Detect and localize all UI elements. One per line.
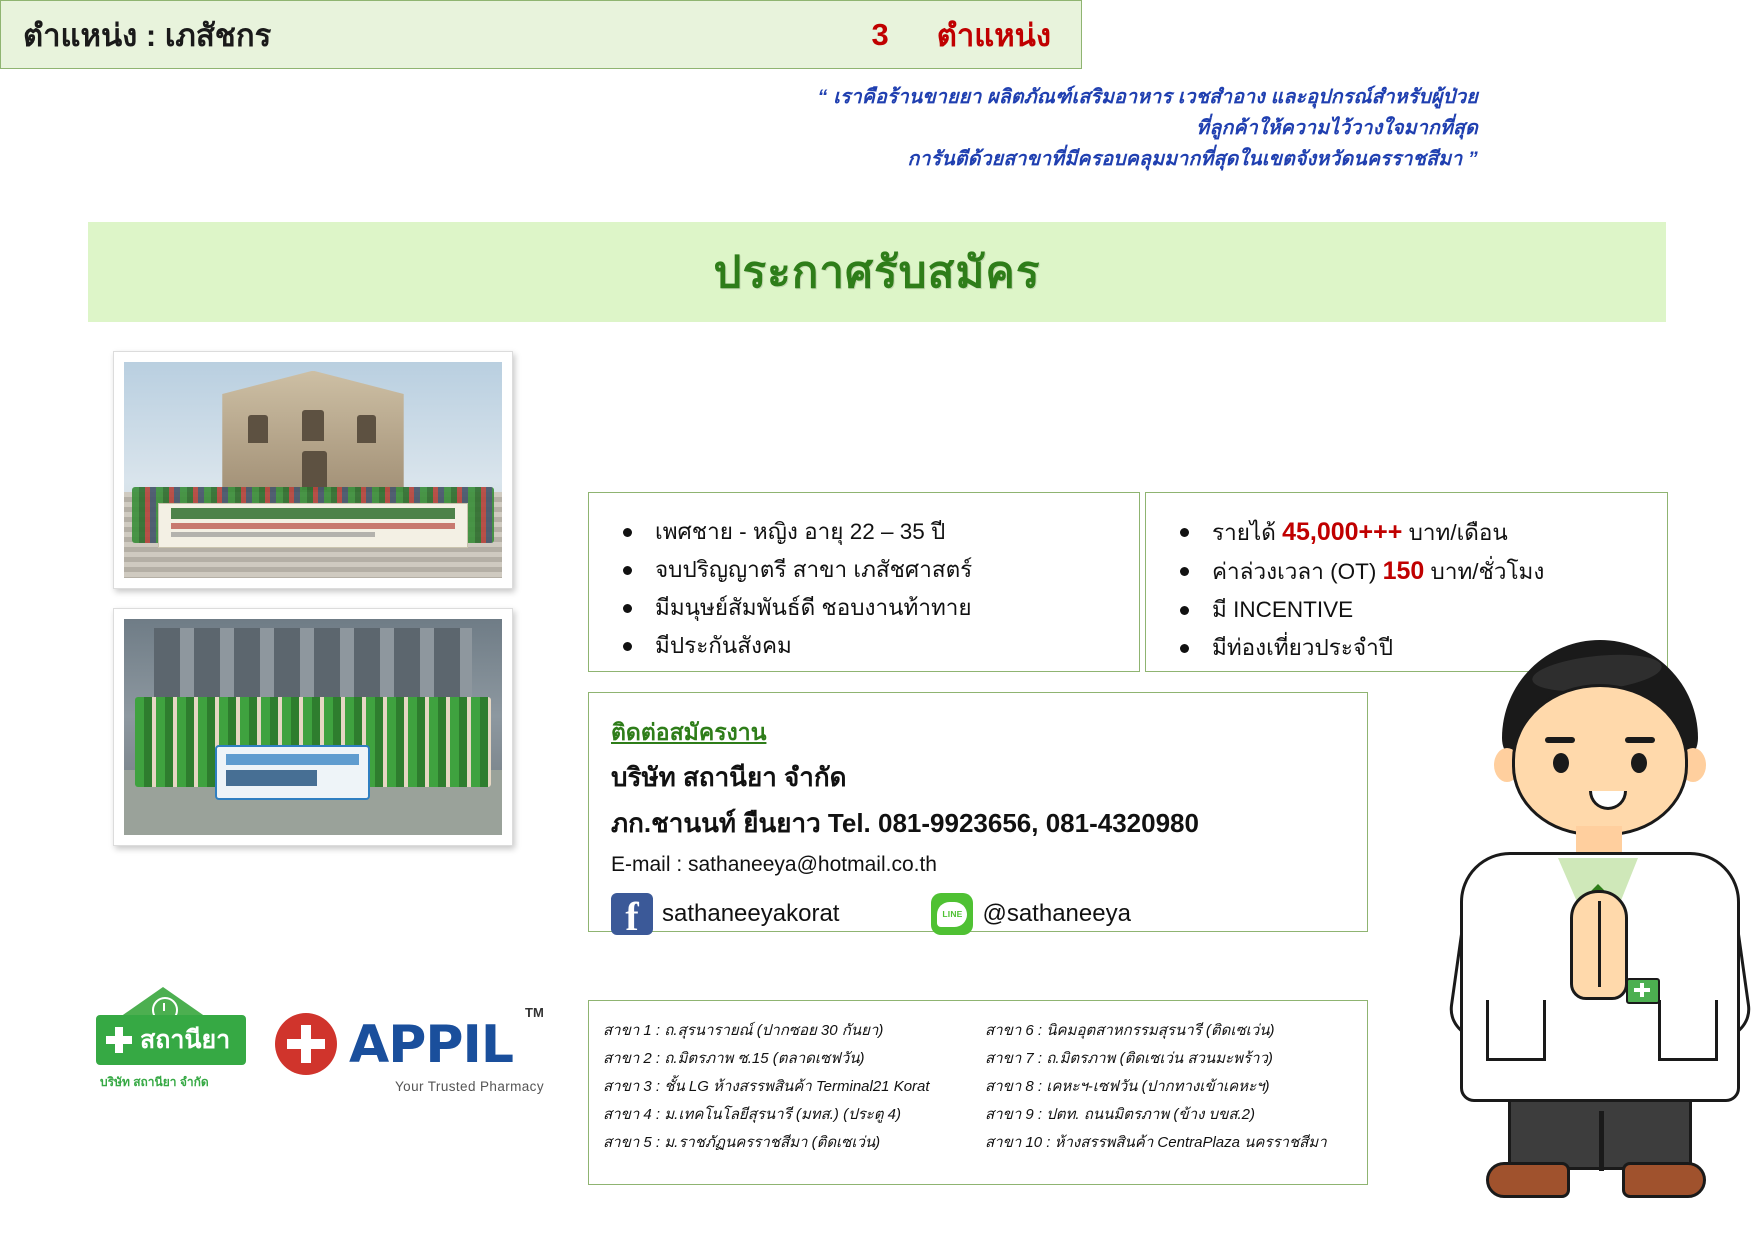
- page-title: ประกาศรับสมัคร: [714, 237, 1041, 307]
- sathaneeya-logo: สถานียา บริษัท สถานียา จำกัด: [80, 985, 265, 1130]
- social-row: sathaneeyakorat LINE @sathaneeya: [611, 893, 1367, 935]
- list-item: สาขา 9 : ปตท. ถนนมิตรภาพ (ข้าง บขส.2): [985, 1101, 1357, 1129]
- contact-box: ติดต่อสมัครงาน บริษัท สถานียา จำกัด ภก.ช…: [588, 692, 1368, 932]
- facebook-icon[interactable]: [611, 893, 653, 935]
- appil-tagline: Your Trusted Pharmacy: [395, 1079, 544, 1094]
- list-item: เพศชาย - หญิง อายุ 22 – 35 ปี: [617, 513, 1139, 551]
- list-item: สาขา 5 : ม.ราชภัฏนครราชสีมา (ติดเซเว่น): [603, 1129, 975, 1157]
- line-icon-label: LINE: [942, 909, 962, 919]
- list-item: สาขา 4 : ม.เทคโนโลยีสุรนารี (มทส.) (ประต…: [603, 1101, 975, 1129]
- contact-heading: ติดต่อสมัครงาน: [611, 715, 766, 751]
- appil-cross-icon: [275, 1013, 337, 1075]
- benefit-highlight: 45,000+++: [1282, 518, 1402, 546]
- contact-company: บริษัท สถานียา จำกัด: [611, 757, 1367, 797]
- benefit-prefix: มีท่องเที่ยวประจำปี: [1212, 635, 1393, 660]
- logo-area: สถานียา บริษัท สถานียา จำกัด APPIL TM Yo…: [80, 985, 550, 1130]
- appil-trademark: TM: [525, 1005, 544, 1020]
- benefit-prefix: รายได้: [1212, 520, 1282, 545]
- position-box: ตำแหน่ง : เภสัชกร 3 ตำแหน่ง: [0, 0, 1082, 69]
- mascot-wai-hands: [1570, 890, 1628, 1000]
- list-item: รายได้ 45,000+++ บาท/เดือน: [1174, 513, 1667, 552]
- header-quote-line-1: “ เราคือร้านขายยา ผลิตภัณฑ์เสริมอาหาร เว…: [818, 82, 1478, 113]
- appil-logo-name: APPIL: [349, 1015, 513, 1075]
- list-item: สาขา 6 : นิคมอุตสาหกรรมสุรนารี (ติดเซเว่…: [985, 1017, 1357, 1045]
- facebook-handle[interactable]: sathaneeyakorat: [662, 900, 839, 928]
- photo-staff-courtyard: [113, 608, 513, 846]
- list-item: สาขา 10 : ห้างสรรพสินค้า CentraPlaza นคร…: [985, 1129, 1357, 1157]
- list-item: สาขา 1 : ถ.สุรนารายณ์ (ปากซอย 30 กันยา): [603, 1017, 975, 1045]
- photo-family-trip: [113, 351, 513, 589]
- header-quote-line-2: ที่ลูกค้าให้ความไว้วางใจมากที่สุด: [818, 113, 1478, 144]
- position-unit: ตำแหน่ง: [937, 10, 1051, 60]
- branches-box: สาขา 1 : ถ.สุรนารายณ์ (ปากซอย 30 กันยา) …: [588, 1000, 1368, 1185]
- medical-cross-icon: [104, 1025, 134, 1055]
- header-quote-line-3: การันตีด้วยสาขาที่มีครอบคลุมมากที่สุดในเ…: [818, 144, 1478, 175]
- benefit-prefix: มี INCENTIVE: [1212, 597, 1353, 622]
- line-handle[interactable]: @sathaneeya: [982, 900, 1130, 928]
- appil-logo: APPIL TM Your Trusted Pharmacy: [275, 999, 550, 1114]
- sathaneeya-logo-sub: บริษัท สถานียา จำกัด: [100, 1073, 209, 1092]
- requirements-list: เพศชาย - หญิง อายุ 22 – 35 ปี จบปริญญาตร…: [589, 493, 1139, 665]
- pharmacist-mascot: [1430, 640, 1753, 1210]
- list-item: สาขา 3 : ชั้น LG ห้างสรรพสินค้า Terminal…: [603, 1073, 975, 1101]
- requirements-box: เพศชาย - หญิง อายุ 22 – 35 ปี จบปริญญาตร…: [588, 492, 1140, 672]
- list-item: มีประกันสังคม: [617, 627, 1139, 665]
- facebook-link[interactable]: sathaneeyakorat: [611, 893, 839, 935]
- list-item: สาขา 8 : เคหะฯ-เซฟวัน (ปากทางเข้าเคหะฯ): [985, 1073, 1357, 1101]
- benefit-suffix: บาท/ชั่วโมง: [1424, 559, 1544, 584]
- benefit-highlight: 150: [1383, 557, 1425, 585]
- contact-person-phone: ภก.ชานนท์ ยืนยาว Tel. 081-9923656, 081-4…: [611, 803, 1367, 843]
- header-quote: “ เราคือร้านขายยา ผลิตภัณฑ์เสริมอาหาร เว…: [818, 82, 1478, 175]
- mascot-badge-icon: [1626, 978, 1660, 1004]
- title-banner: ประกาศรับสมัคร: [88, 222, 1666, 322]
- mascot-face: [1512, 684, 1688, 836]
- list-item: มี INCENTIVE: [1174, 591, 1667, 629]
- benefit-prefix: ค่าล่วงเวลา (OT): [1212, 559, 1383, 584]
- list-item: ค่าล่วงเวลา (OT) 150 บาท/ชั่วโมง: [1174, 552, 1667, 591]
- list-item: สาขา 2 : ถ.มิตรภาพ ซ.15 (ตลาดเซฟวัน): [603, 1045, 975, 1073]
- list-item: สาขา 7 : ถ.มิตรภาพ (ติดเซเว่น สวนมะพร้าว…: [985, 1045, 1357, 1073]
- position-label: ตำแหน่ง : เภสัชกร: [23, 10, 271, 60]
- position-count: 3: [871, 17, 888, 53]
- list-item: มีมนุษย์สัมพันธ์ดี ชอบงานท้าทาย: [617, 589, 1139, 627]
- line-icon[interactable]: LINE: [931, 893, 973, 935]
- line-link[interactable]: LINE @sathaneeya: [931, 893, 1130, 935]
- sathaneeya-logo-name: สถานียา: [140, 1020, 230, 1060]
- benefit-suffix: บาท/เดือน: [1402, 520, 1507, 545]
- branches-list: สาขา 1 : ถ.สุรนารายณ์ (ปากซอย 30 กันยา) …: [589, 1001, 1367, 1157]
- list-item: จบปริญญาตรี สาขา เภสัชศาสตร์: [617, 551, 1139, 589]
- contact-email: E-mail : sathaneeya@hotmail.co.th: [611, 853, 1367, 877]
